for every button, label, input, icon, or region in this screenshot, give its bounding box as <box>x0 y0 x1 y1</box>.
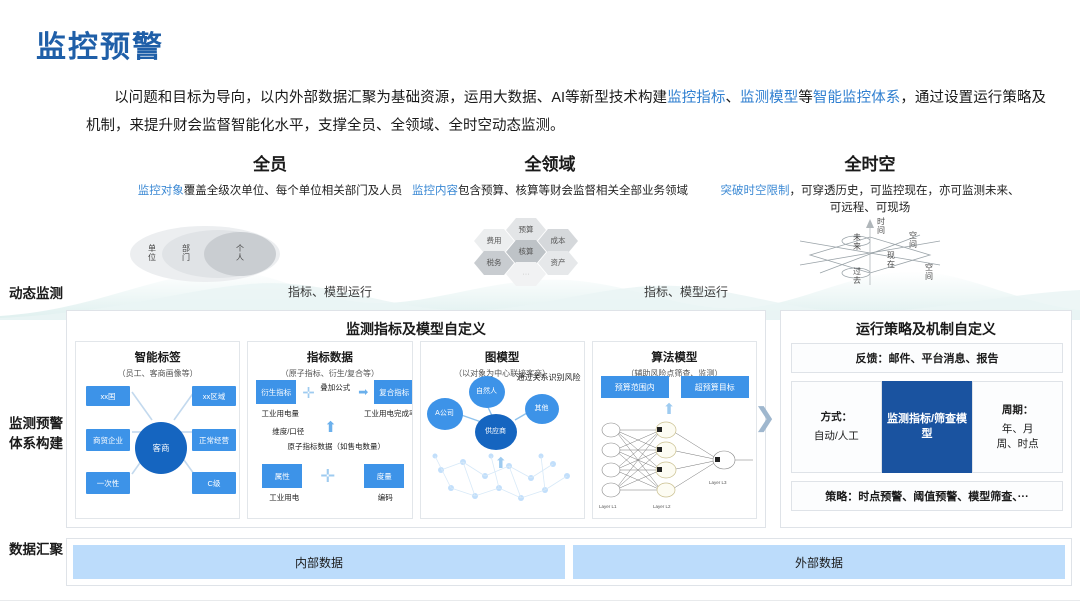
subpanel-title: 指标数据 <box>248 349 411 365</box>
pillar-description: 监控内容包含预算、核算等财会监督相关全部业务领域 <box>400 183 700 200</box>
box-derived-indicator[interactable]: 衍生指标 <box>256 380 296 404</box>
pillar-title: 全领域 <box>400 150 700 175</box>
slide-canvas: 监控预警 以问题和目标为导向，以内外部数据汇聚为基础资源，运用大数据、AI等新型… <box>0 0 1080 607</box>
axis-label-past: 过去 <box>852 267 862 285</box>
label-industrial-power: 工业用电量 <box>250 408 310 419</box>
row-strategy[interactable]: 策略：时点预警、阈值预警、模型筛查、··· <box>791 481 1063 511</box>
pillar-all-staff: 全员 监控对象覆盖全级次单位、每个单位相关部门及人员 <box>120 150 420 200</box>
nested-ovals-illustration: 单位 部门 个人 <box>130 222 310 284</box>
svg-text:Layer L3: Layer L3 <box>709 480 727 485</box>
pillar-highlight: 监控内容 <box>412 185 458 197</box>
oval-label-unit: 单位 <box>146 244 158 262</box>
cell-cycle[interactable]: 周期： 年、月 周、时点 <box>972 381 1063 473</box>
bottom-divider <box>0 600 1080 601</box>
pillar-title: 全员 <box>120 150 420 175</box>
hex-cost: 成本 <box>538 229 578 253</box>
data-layer-panel: 内部数据 外部数据 <box>66 538 1072 586</box>
pillar-all-domains: 全领域 监控内容包含预算、核算等财会监督相关全部业务领域 <box>400 150 700 200</box>
pillar-highlight: 突破时空限制 <box>721 185 790 197</box>
label-industrial-power-2: 工业用电 <box>256 492 312 503</box>
tag-normal-operation[interactable]: 正常经营 <box>192 429 236 451</box>
pillar-description: 监控对象覆盖全级次单位、每个单位相关部门及人员 <box>120 183 420 200</box>
pillar-highlight: 监控对象 <box>138 185 184 197</box>
oval-label-person: 个人 <box>234 244 246 262</box>
subpanel-subtitle: （原子指标、衍生/复合等） <box>248 368 411 379</box>
intro-highlight-3: 智能监控体系 <box>813 90 900 106</box>
time-space-axes-illustration: 时间 未来 现在 过去 空间 空间 <box>790 215 950 289</box>
row-feedback[interactable]: 反馈：邮件、平台消息、报告 <box>791 343 1063 373</box>
subpanel-indicator-data[interactable]: 指标数据 （原子指标、衍生/复合等） 衍生指标 ✛ 叠加公式 ➡ 复合指标 工业… <box>247 341 412 519</box>
intro-sep-1: 、 <box>725 90 740 106</box>
graph-node-supplier[interactable]: 供应商 <box>475 414 517 450</box>
box-attribute[interactable]: 属性 <box>262 464 302 488</box>
label-dimension-caliber: 维度/口径 <box>260 426 316 437</box>
rail-monitoring-system-build: 监测预警体系构建 <box>8 414 64 454</box>
hex-expense: 费用 <box>474 229 514 253</box>
databar-internal[interactable]: 内部数据 <box>73 545 565 579</box>
intro-text-1: 以问题和目标为导向，以内外部数据汇聚为基础资源，运用大数据、AI等新型技术构建 <box>114 90 667 106</box>
right-panel-title: 运行策略及机制自定义 <box>781 311 1071 339</box>
graph-note-risk-identification: 通过关系识别风险 <box>515 372 583 383</box>
hexagon-illustration: 预算 核算 成本 费用 税务 资产 ··· <box>462 218 602 288</box>
axis-label-time: 时间 <box>876 217 886 235</box>
flow-label-left: 指标、模型运行 <box>288 283 372 300</box>
label-overlay-formula: 叠加公式 <box>314 382 356 393</box>
hex-budget: 预算 <box>506 218 546 242</box>
cycle-value-1: 年、月 <box>1002 422 1034 437</box>
tag-one-time[interactable]: 一次性 <box>86 472 130 494</box>
plus-icon-2: ✛ <box>320 470 335 482</box>
main-panel-title: 监测指标及模型自定义 <box>67 311 765 339</box>
intro-sep-2: 等 <box>798 90 813 106</box>
graph-node-other[interactable]: 其他 <box>525 394 559 424</box>
oval-label-department: 部门 <box>180 244 192 262</box>
rail-data-aggregation: 数据汇聚 <box>8 540 64 560</box>
box-composite-indicator[interactable]: 复合指标 <box>374 380 412 404</box>
cell-method[interactable]: 方式： 自动/人工 <box>791 381 882 473</box>
subpanel-graph-model[interactable]: 图模型 （以对象为中心联接客商） <box>420 341 585 519</box>
right-panel: 运行策略及机制自定义 反馈：邮件、平台消息、报告 方式： 自动/人工 监测指标/… <box>780 310 1072 528</box>
cycle-label: 周期： <box>1002 403 1034 418</box>
method-value: 自动/人工 <box>814 429 859 444</box>
cycle-value-2: 周、时点 <box>997 437 1039 452</box>
axis-label-present: 现在 <box>886 251 896 269</box>
databar-external[interactable]: 外部数据 <box>573 545 1065 579</box>
pillar-description: 突破时空限制，可穿透历史，可监控现在，亦可监测未来、可远程、可现场 <box>720 183 1020 217</box>
graph-node-company-a[interactable]: A公司 <box>427 398 463 430</box>
label-power-completion-rate: 工业用电完成率 <box>356 408 412 419</box>
method-label: 方式： <box>821 410 853 425</box>
tag-region[interactable]: xx区域 <box>192 386 236 406</box>
neural-network-diagram: Layer L1 Layer L2 Layer L3 <box>597 416 757 516</box>
button-over-budget-target[interactable]: 超预算目标 <box>681 376 749 398</box>
hex-tax: 税务 <box>474 251 514 275</box>
hex-accounting: 核算 <box>506 240 546 264</box>
hex-more: ··· <box>506 262 546 286</box>
subpanel-container: 智能标签 （员工、客商画像等） 客商 xx国 xx区域 商贸企业 正常经营 一次… <box>75 341 757 519</box>
plus-icon-1: ✛ <box>302 388 315 400</box>
axis-label-future: 未来 <box>852 233 862 251</box>
chevron-right-icon: ❯ <box>754 404 776 430</box>
cell-monitoring-model[interactable]: 监测指标/筛查模型 <box>882 381 973 473</box>
arrow-right-icon-1: ➡ <box>358 386 368 398</box>
axis-label-space-2: 空间 <box>924 263 934 281</box>
flow-label-right: 指标、模型运行 <box>644 283 728 300</box>
tag-country[interactable]: xx国 <box>86 386 130 406</box>
svg-text:Layer L2: Layer L2 <box>653 504 671 509</box>
pillar-desc-text: 包含预算、核算等财会监督相关全部业务领域 <box>458 185 688 197</box>
subpanel-algorithm-model[interactable]: 算法模型 （辅助风险点筛查、监测） 预算范围内 超预算目标 ⬆ <box>592 341 757 519</box>
rail-dynamic-monitoring: 动态监测 <box>8 284 64 304</box>
hex-asset: 资产 <box>538 251 578 275</box>
pillar-desc-text: 覆盖全级次单位、每个单位相关部门及人员 <box>184 185 403 197</box>
subpanel-title: 算法模型 <box>593 349 756 365</box>
subpanel-title: 图模型 <box>421 349 584 365</box>
intro-highlight-2: 监测模型 <box>740 90 798 106</box>
button-within-budget[interactable]: 预算范围内 <box>601 376 669 398</box>
box-measure[interactable]: 度量 <box>364 464 404 488</box>
axis-label-space-1: 空间 <box>908 231 918 249</box>
tag-trading-company[interactable]: 商贸企业 <box>86 429 130 451</box>
pillar-title: 全时空 <box>720 150 1020 175</box>
main-panel: 监测指标及模型自定义 智能标签 （员工、客商画像等） 客商 xx国 xx区域 商… <box>66 310 766 528</box>
tag-grade-c[interactable]: C级 <box>192 472 236 494</box>
svg-text:Layer L1: Layer L1 <box>599 504 617 509</box>
graph-node-natural-person[interactable]: 自然人 <box>469 376 505 408</box>
label-code: 编码 <box>360 492 410 503</box>
intro-paragraph: 以问题和目标为导向，以内外部数据汇聚为基础资源，运用大数据、AI等新型技术构建监… <box>86 84 1046 140</box>
arrow-up-icon-graph: ⬆ <box>495 454 508 472</box>
page-title: 监控预警 <box>36 22 164 66</box>
label-atomic-indicator-data: 原子指标数据（如售电数量） <box>256 442 412 452</box>
intro-highlight-1: 监控指标 <box>667 90 725 106</box>
right-panel-middle: 方式： 自动/人工 监测指标/筛查模型 周期： 年、月 周、时点 <box>791 381 1063 473</box>
subpanel-smart-tags[interactable]: 智能标签 （员工、客商画像等） 客商 xx国 xx区域 商贸企业 正常经营 一次… <box>75 341 240 519</box>
monitoring-model-label: 监测指标/筛查模型 <box>883 412 972 442</box>
pillar-all-spacetime: 全时空 突破时空限制，可穿透历史，可监控现在，亦可监测未来、可远程、可现场 <box>720 150 1020 217</box>
subpanel-title: 智能标签 <box>76 349 239 365</box>
tag-center-merchant: 客商 <box>135 422 187 474</box>
pillar-desc-text: ，可穿透历史，可监控现在，亦可监测未来、可远程、可现场 <box>790 185 1020 214</box>
arrow-up-icon: ⬆ <box>324 422 337 434</box>
